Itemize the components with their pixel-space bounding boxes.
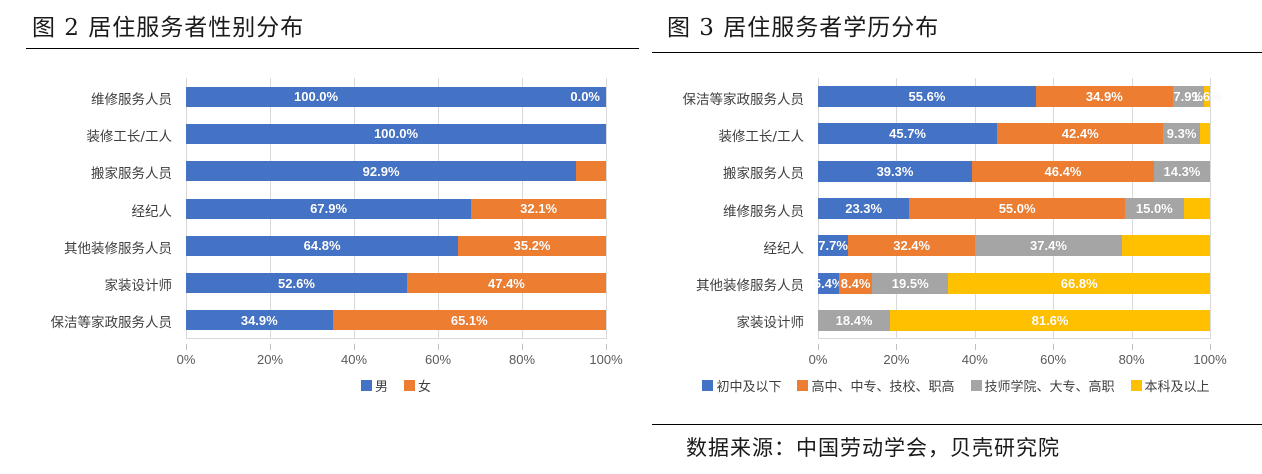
chart1-tick-label: 20% [257,352,283,367]
chart2-bar-row: 5.4%8.4%19.5%66.8% [818,273,1210,294]
chart2-legend-item[interactable]: 高中、中专、技校、职高 [797,376,954,395]
chart2-axis-line [818,338,1210,339]
chart1-tick-label: 80% [509,352,535,367]
title-divider-left [26,48,639,49]
chart1-segment-value: 67.9% [310,201,347,216]
chart1-bar-row: 67.9%32.1% [186,199,606,219]
chart2-segment [1122,235,1210,256]
chart2-segment: 39.3% [818,161,972,182]
chart2-segment: 8.4% [839,273,872,294]
chart2-segment: 23.3% [818,198,909,219]
chart2-segment: 7.7% [818,235,848,256]
chart2-legend-item[interactable]: 初中及以下 [702,376,781,395]
chart2-segment-value: 15.0% [1136,201,1173,216]
chart1-tick-mark [270,344,271,350]
chart2-tick-label: 80% [1119,352,1145,367]
chart1-category-label: 装修工长/工人 [86,125,172,145]
chart1-segment-value: 35.2% [514,238,551,253]
chart1-segment-value: 52.6% [278,276,315,291]
gender-distribution-chart: 维修服务人员装修工长/工人搬家服务人员经纪人其他装修服务人员家装设计师保洁等家政… [0,66,636,411]
chart2-segment-value: 19.5% [892,276,929,291]
chart2-segment: 15.0% [1125,198,1184,219]
chart1-axis-line [186,338,606,339]
chart1-tick-mark [354,344,355,350]
chart2-segment [1184,198,1210,219]
chart2-tick-label: 20% [883,352,909,367]
chart1-legend: 男女 [186,376,606,395]
chart2-category-labels: 保洁等家政服务人员装修工长/工人搬家服务人员维修服务人员经纪人其他装修服务人员家… [640,78,812,339]
chart1-segment: 64.8% [186,236,458,256]
chart2-bar-row: 7.7%32.4%37.4% [818,235,1210,256]
chart2-legend: 初中及以下高中、中专、技校、职高技师学院、大专、高职本科及以上 [666,376,1246,395]
chart1-legend-label: 男 [375,376,388,395]
chart1-segment-value: 0.0% [570,89,600,104]
chart2-x-axis: 0%20%40%60%80%100% [818,344,1210,370]
chart2-segment-value: 45.7% [889,126,926,141]
chart1-tick-mark [438,344,439,350]
chart1-category-label: 经纪人 [132,200,173,220]
chart1-category-labels: 维修服务人员装修工长/工人搬家服务人员经纪人其他装修服务人员家装设计师保洁等家政… [0,78,180,339]
chart2-legend-label: 技师学院、大专、高职 [985,376,1115,395]
chart2-legend-item[interactable]: 本科及以上 [1131,376,1210,395]
chart1-tick-label: 100% [589,352,622,367]
chart2-legend-label: 本科及以上 [1145,376,1210,395]
chart2-segment: 34.9% [1036,86,1173,107]
chart2-tick-mark [818,344,819,350]
chart2-tick-label: 60% [1040,352,1066,367]
chart1-plot-area: 100.0%0.0%100.0%92.9%67.9%32.1%64.8%35.2… [186,78,606,339]
chart2-segment-value: 7.7% [818,238,848,253]
title-divider-right [652,52,1262,53]
chart2-segment: 32.4% [848,235,975,256]
education-distribution-chart: 保洁等家政服务人员装修工长/工人搬家服务人员维修服务人员经纪人其他装修服务人员家… [640,66,1262,411]
chart1-legend-item[interactable]: 女 [404,376,431,395]
chart2-segment: 45.7% [818,123,997,144]
chart2-segment-value: 55.0% [999,201,1036,216]
chart2-tick-mark [1053,344,1054,350]
chart1-legend-swatch-icon [361,380,372,391]
chart2-segment: 55.0% [909,198,1125,219]
chart1-tick-mark [606,344,607,350]
chart2-segment: 66.8% [948,273,1210,294]
chart2-segment-value: 55.6% [909,89,946,104]
chart1-segment: 47.4% [407,273,606,293]
chart2-category-label: 其他装修服务人员 [696,274,804,294]
chart2-segment: 19.5% [872,273,948,294]
chart1-segment: 65.1% [333,310,606,330]
chart1-segment-value: 100.0% [374,126,418,141]
figure-page: 图 2 居住服务者性别分布 图 3 居住服务者学历分布 维修服务人员装修工长/工… [0,0,1262,474]
chart1-bar-row: 52.6%47.4% [186,273,606,293]
chart1-x-axis: 0%20%40%60%80%100% [186,344,606,370]
chart2-segment-value: 39.3% [877,164,914,179]
chart1-tick-label: 40% [341,352,367,367]
chart2-segment-value: 81.6% [1032,313,1069,328]
chart1-category-label: 维修服务人员 [91,88,172,108]
chart1-segment-value: 92.9% [363,164,400,179]
chart1-tick-mark [522,344,523,350]
chart2-legend-label: 高中、中专、技校、职高 [811,376,954,395]
chart1-bar-row: 92.9% [186,161,606,181]
chart2-legend-swatch-icon [971,380,982,391]
chart2-tick-mark [896,344,897,350]
chart1-segment-value: 65.1% [451,313,488,328]
chart1-segment: 35.2% [458,236,606,256]
chart2-legend-swatch-icon [702,380,713,391]
chart1-segment: 100.0%0.0% [186,87,606,107]
chart2-tick-mark [975,344,976,350]
chart2-tick-label: 40% [962,352,988,367]
chart1-segment: 92.9% [186,161,576,181]
chart2-legend-swatch-icon [797,380,808,391]
chart2-segment-value: 42.4% [1062,126,1099,141]
chart1-category-label: 搬家服务人员 [91,162,172,182]
titles-row: 图 2 居住服务者性别分布 图 3 居住服务者学历分布 [0,0,1262,52]
chart2-segment: 55.6% [818,86,1036,107]
chart2-segment-value: 14.3% [1164,164,1201,179]
chart2-category-label: 搬家服务人员 [723,162,804,182]
chart2-bar-row: 39.3%46.4%14.3% [818,161,1210,182]
chart2-tick-mark [1210,344,1211,350]
chart2-segment: 5.4% [818,273,839,294]
chart1-segment-value: 100.0% [294,89,498,104]
chart2-category-label: 经纪人 [764,237,805,257]
chart1-tick-mark [186,344,187,350]
source-note: 数据来源：中国劳动学会，贝壳研究院 [686,432,1060,462]
chart2-category-label: 家装设计师 [737,311,805,331]
chart2-segment-value: 1.6% [1192,89,1222,104]
chart1-legend-label: 女 [418,376,431,395]
chart2-bar-row: 45.7%42.4%9.3% [818,123,1210,144]
chart1-segment: 32.1% [471,199,606,219]
chart2-bar-row: 23.3%55.0%15.0% [818,198,1210,219]
chart1-segment-value: 32.1% [520,201,557,216]
chart1-bar-row: 64.8%35.2% [186,236,606,256]
chart1-segment: 100.0% [186,124,606,144]
chart2-legend-label: 初中及以下 [716,376,781,395]
chart2-segment-value: 18.4% [836,313,873,328]
chart1-legend-swatch-icon [404,380,415,391]
chart1-bar-row: 100.0% [186,124,606,144]
chart2-segment: 81.6% [890,310,1210,331]
chart2-segment: 18.4% [818,310,890,331]
chart2-bar-row: 55.6%34.9%7.9%1.6% [818,86,1210,107]
chart2-segment-value: 9.3% [1167,126,1197,141]
figure2-title: 图 2 居住服务者性别分布 [32,8,304,42]
chart2-segment-value: 66.8% [1061,276,1098,291]
chart2-segment: 9.3% [1163,123,1199,144]
chart2-plot-area: 55.6%34.9%7.9%1.6%45.7%42.4%9.3%39.3%46.… [818,78,1210,339]
chart1-tick-label: 0% [177,352,196,367]
chart1-gridline [606,78,607,339]
chart1-category-label: 家装设计师 [105,274,173,294]
chart2-category-label: 装修工长/工人 [718,125,804,145]
chart1-segment: 34.9% [186,310,333,330]
chart2-segment: 37.4% [975,235,1122,256]
chart2-segment-value: 46.4% [1045,164,1082,179]
chart2-bar-row: 18.4%81.6% [818,310,1210,331]
chart2-tick-label: 0% [809,352,828,367]
chart2-category-label: 保洁等家政服务人员 [683,88,805,108]
chart2-segment [1200,123,1210,144]
chart2-segment-value: 32.4% [893,238,930,253]
chart2-segment: 14.3% [1154,161,1210,182]
figure3-title: 图 3 居住服务者学历分布 [667,8,939,42]
chart1-bar-row: 100.0%0.0% [186,87,606,107]
chart1-category-label: 其他装修服务人员 [64,237,172,257]
chart2-legend-swatch-icon [1131,380,1142,391]
chart2-segment-value: 34.9% [1086,89,1123,104]
chart2-category-label: 维修服务人员 [723,200,804,220]
chart1-bar-row: 34.9%65.1% [186,310,606,330]
chart1-segment [576,161,606,181]
chart1-legend-item[interactable]: 男 [361,376,388,395]
chart2-tick-mark [1132,344,1133,350]
chart2-segment-value: 37.4% [1030,238,1067,253]
chart2-gridline [1210,78,1211,339]
chart1-segment: 52.6% [186,273,407,293]
chart2-segment: 1.6% [1204,86,1210,107]
chart2-segment: 46.4% [972,161,1154,182]
chart2-tick-label: 100% [1193,352,1226,367]
chart2-legend-item[interactable]: 技师学院、大专、高职 [971,376,1115,395]
chart1-segment-value: 64.8% [304,238,341,253]
chart1-segment: 67.9% [186,199,471,219]
chart1-segment-value: 47.4% [488,276,525,291]
chart2-segment-value: 8.4% [841,276,871,291]
chart2-segment-value: 23.3% [845,201,882,216]
chart2-segment: 42.4% [997,123,1163,144]
chart1-segment-value: 34.9% [241,313,278,328]
chart1-category-label: 保洁等家政服务人员 [51,311,173,331]
source-divider [652,424,1262,425]
chart1-tick-label: 60% [425,352,451,367]
